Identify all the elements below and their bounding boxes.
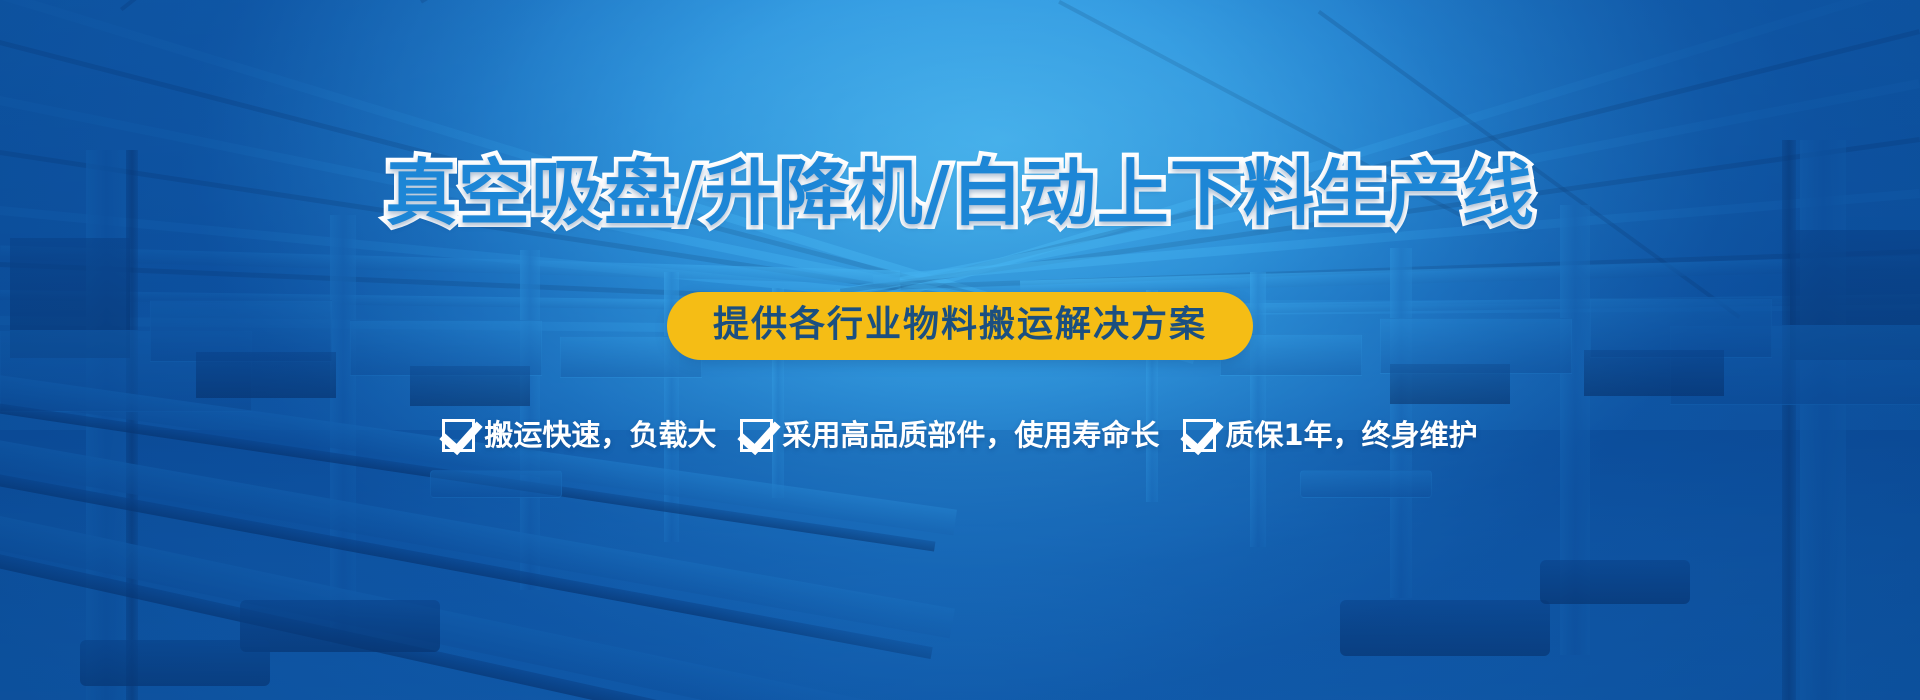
feature-item: 采用高品质部件，使用寿命长 bbox=[740, 418, 1159, 452]
tagline-pill: 提供各行业物料搬运解决方案 bbox=[667, 292, 1253, 360]
banner-content: 真空吸盘/升降机/自动上下料生产线 提供各行业物料搬运解决方案 搬运快速，负载大… bbox=[0, 0, 1920, 700]
feature-item: 搬运快速，负载大 bbox=[442, 418, 716, 452]
hero-banner: 真空吸盘/升降机/自动上下料生产线 提供各行业物料搬运解决方案 搬运快速，负载大… bbox=[0, 0, 1920, 700]
check-box-icon bbox=[740, 419, 773, 452]
feature-list: 搬运快速，负载大 采用高品质部件，使用寿命长 质保1年，终身维护 bbox=[0, 418, 1920, 452]
page-title: 真空吸盘/升降机/自动上下料生产线 bbox=[0, 150, 1920, 236]
check-box-icon bbox=[442, 419, 475, 452]
feature-item: 质保1年，终身维护 bbox=[1183, 418, 1477, 452]
feature-label: 采用高品质部件，使用寿命长 bbox=[782, 418, 1159, 452]
check-box-icon bbox=[1183, 419, 1216, 452]
feature-label: 质保1年，终身维护 bbox=[1225, 418, 1477, 452]
feature-label: 搬运快速，负载大 bbox=[484, 418, 716, 452]
